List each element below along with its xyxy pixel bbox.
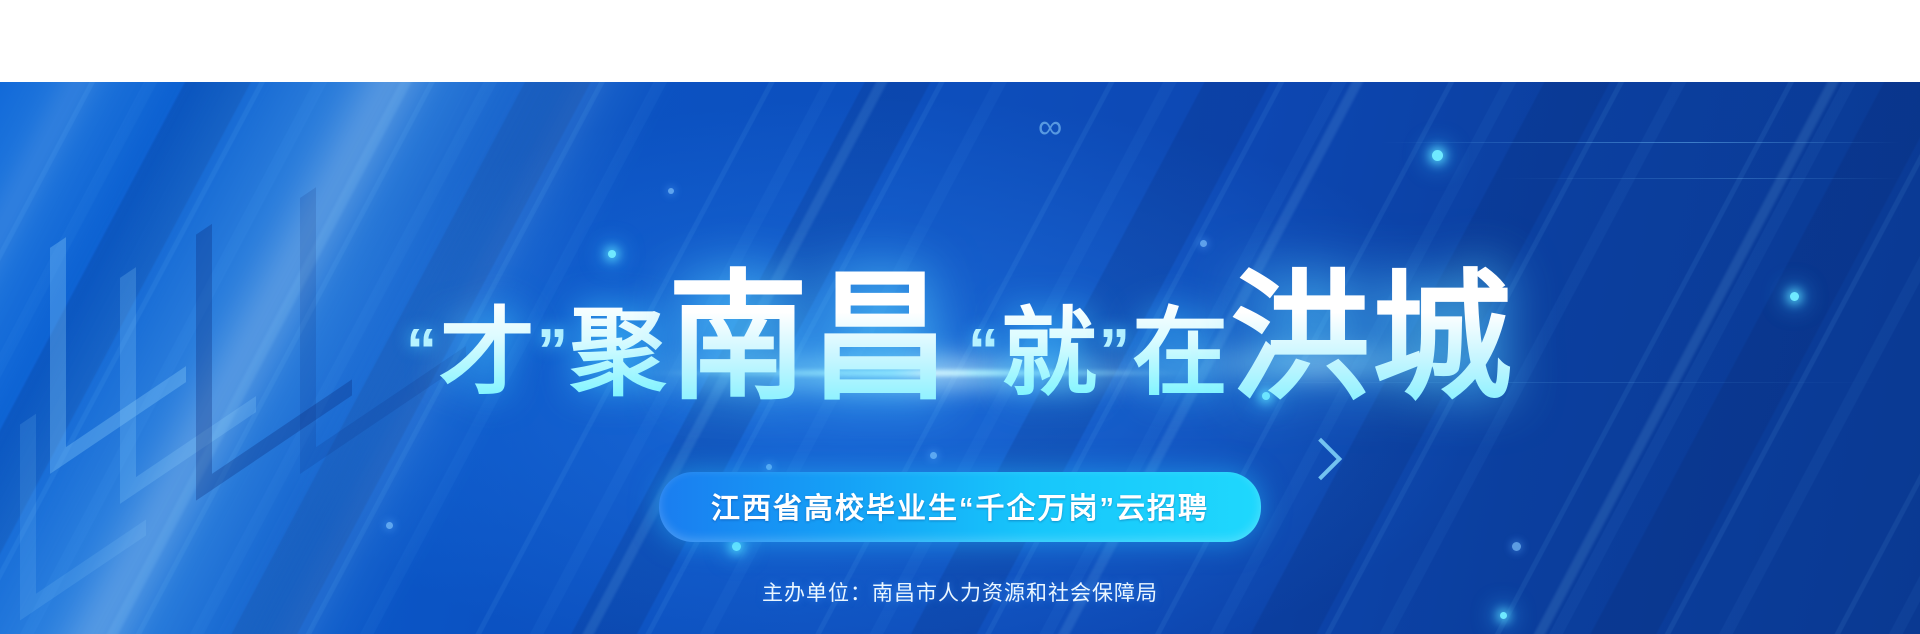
title-quote-open-2: “ (968, 317, 1001, 386)
glow-dot-3 (608, 250, 616, 258)
glow-dot-4 (668, 188, 674, 194)
subtitle-pill-row: 江西省高校毕业生“千企万岗”云招聘 (0, 472, 1920, 542)
title-char-cai: 才 (439, 300, 537, 407)
banner-background: ∞ “才”聚南昌“就”在洪城 江西省高校毕业生“千企万岗”云招聘 主办单位：南昌… (0, 82, 1920, 634)
organizer-line-host: 主办单位：南昌市人力资源和社会保障局 (0, 577, 1920, 607)
glow-dot-6 (930, 452, 937, 459)
title-quote-open-1: “ (406, 317, 439, 386)
subtitle-pill: 江西省高校毕业生“千企万岗”云招聘 (659, 472, 1261, 542)
title-word-nanchang: 南昌 (668, 259, 952, 416)
infinity-icon: ∞ (1038, 110, 1062, 144)
banner-title: “才”聚南昌“就”在洪城 (0, 268, 1920, 408)
organizer-block: 主办单位：南昌市人力资源和社会保障局 承办单位：聚才人力集团、江西人才招聘网 (0, 577, 1920, 634)
glow-dot-2 (1200, 240, 1207, 247)
page-top-whitespace (0, 0, 1920, 82)
banner-canvas: ∞ “才”聚南昌“就”在洪城 江西省高校毕业生“千企万岗”云招聘 主办单位：南昌… (0, 0, 1920, 634)
glow-dot-8 (1512, 542, 1521, 551)
title-char-ju: 聚 (570, 300, 668, 407)
banner-title-text: “才”聚南昌“就”在洪城 (406, 268, 1514, 408)
title-quote-close-1: ” (537, 317, 570, 386)
title-char-zai: 在 (1132, 300, 1230, 407)
title-word-hongcheng: 洪城 (1230, 259, 1514, 416)
glow-dot-1 (1432, 150, 1443, 161)
glow-dot-10 (766, 464, 772, 470)
title-quote-close-2: ” (1099, 317, 1132, 386)
glow-dot-11 (732, 542, 741, 551)
title-char-jiu: 就 (1001, 300, 1099, 407)
